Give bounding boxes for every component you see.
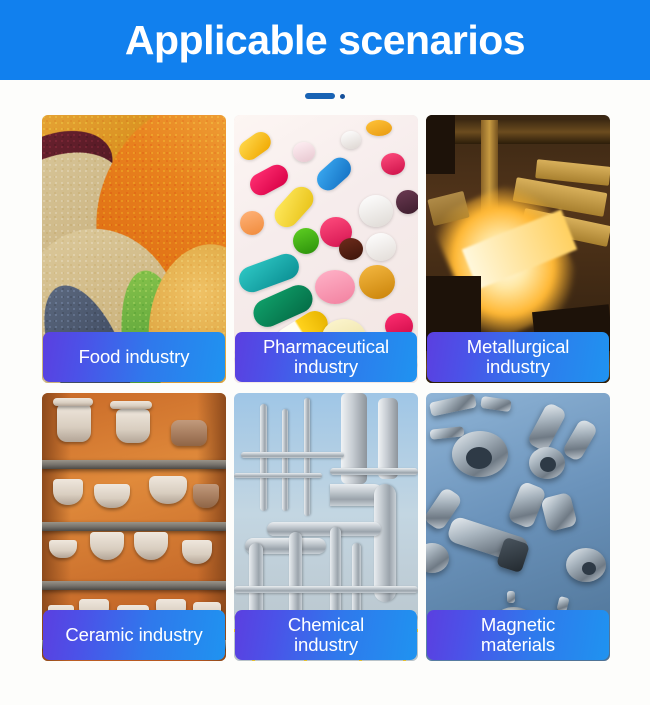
magnetic-materials-label: Magnetic materials — [427, 610, 609, 660]
scenario-card-chemical-industry[interactable]: Chemical industry — [234, 393, 418, 661]
chemical-industry-label: Chemical industry — [235, 610, 417, 660]
food-industry-label-text: Food industry — [79, 347, 190, 367]
food-industry-label: Food industry — [43, 332, 225, 382]
scenario-card-ceramic-industry[interactable]: Ceramic industry — [42, 393, 226, 661]
metallurgical-industry-label-text: Metallurgical industry — [467, 337, 570, 377]
applicable-scenarios-page: Applicable scenarios Food industry — [0, 0, 650, 705]
scenario-card-metallurgical-industry[interactable]: Metallurgical industry — [426, 115, 610, 383]
ceramic-industry-label-text: Ceramic industry — [65, 625, 202, 645]
metallurgical-industry-label: Metallurgical industry — [427, 332, 609, 382]
pharmaceutical-industry-label: Pharmaceutical industry — [235, 332, 417, 382]
magnetic-materials-label-text: Magnetic materials — [481, 615, 555, 655]
page-header: Applicable scenarios — [0, 0, 650, 80]
carousel-pagination[interactable] — [0, 88, 650, 104]
pharmaceutical-industry-label-text: Pharmaceutical industry — [263, 337, 389, 377]
scenario-card-magnetic-materials[interactable]: Magnetic materials — [426, 393, 610, 661]
chemical-industry-label-text: Chemical industry — [288, 615, 364, 655]
scenario-card-pharmaceutical-industry[interactable]: Pharmaceutical industry — [234, 115, 418, 383]
pagination-dot-2[interactable] — [340, 94, 345, 99]
page-title: Applicable scenarios — [125, 20, 525, 61]
pagination-dot-1[interactable] — [305, 93, 335, 99]
scenario-card-food-industry[interactable]: Food industry — [42, 115, 226, 383]
scenario-card-grid: Food industry — [42, 115, 610, 661]
ceramic-industry-label: Ceramic industry — [43, 610, 225, 660]
